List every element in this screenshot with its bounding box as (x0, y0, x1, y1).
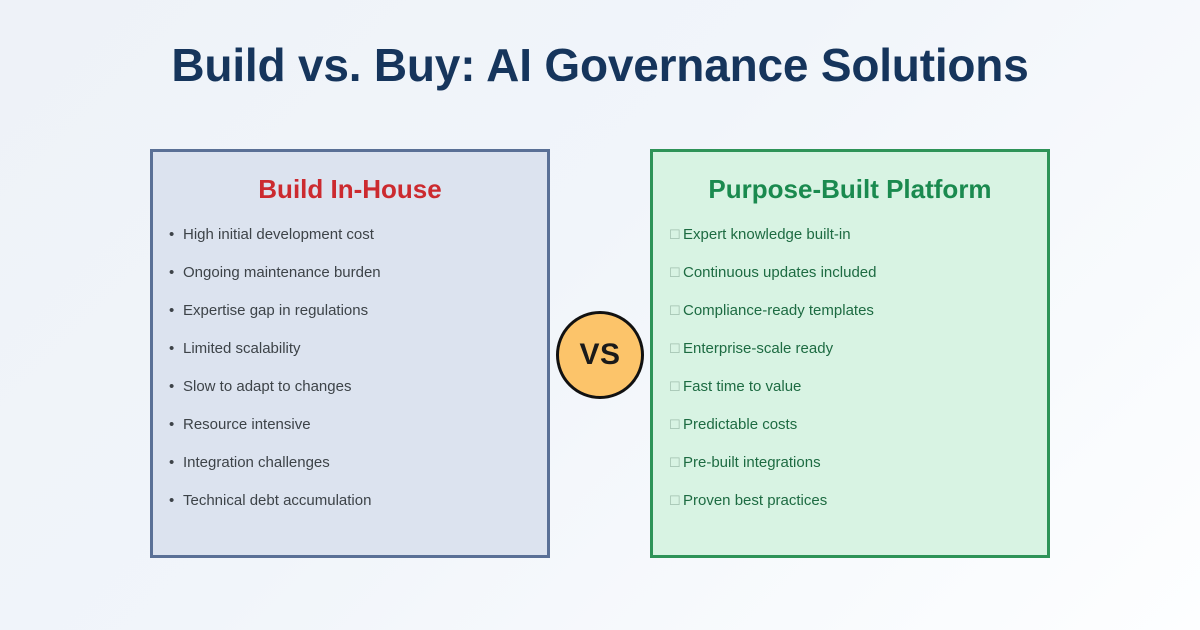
list-item-label: Continuous updates included (683, 264, 876, 281)
list-item: •Limited scalability (153, 340, 547, 378)
bullet-marker-icon: ☐ (669, 379, 683, 395)
bullet-marker-icon: ☐ (669, 493, 683, 509)
list-item-label: Limited scalability (183, 340, 301, 357)
bullet-marker-icon: ☐ (669, 303, 683, 319)
build-in-house-heading: Build In-House (153, 174, 547, 205)
page-title: Build vs. Buy: AI Governance Solutions (0, 38, 1200, 92)
list-item: ☐Proven best practices (653, 492, 1047, 530)
list-item-label: Ongoing maintenance burden (183, 264, 381, 281)
list-item-label: Resource intensive (183, 416, 311, 433)
list-item: •Integration challenges (153, 454, 547, 492)
list-item-label: Integration challenges (183, 454, 330, 471)
bullet-marker-icon: • (169, 378, 183, 395)
bullet-marker-icon: • (169, 264, 183, 281)
bullet-marker-icon: • (169, 226, 183, 243)
bullet-marker-icon: ☐ (669, 455, 683, 471)
list-item: ☐Enterprise-scale ready (653, 340, 1047, 378)
list-item: ☐Continuous updates included (653, 264, 1047, 302)
list-item: ☐Predictable costs (653, 416, 1047, 454)
bullet-marker-icon: ☐ (669, 341, 683, 357)
bullet-marker-icon: • (169, 416, 183, 433)
bullet-marker-icon: ☐ (669, 417, 683, 433)
list-item: •High initial development cost (153, 226, 547, 264)
bullet-marker-icon: • (169, 492, 183, 509)
bullet-marker-icon: • (169, 302, 183, 319)
list-item: ☐Expert knowledge built-in (653, 226, 1047, 264)
list-item: •Slow to adapt to changes (153, 378, 547, 416)
build-in-house-list: •High initial development cost•Ongoing m… (153, 226, 547, 530)
list-item-label: Enterprise-scale ready (683, 340, 833, 357)
list-item-label: Predictable costs (683, 416, 797, 433)
purpose-built-platform-panel: Purpose-Built Platform ☐Expert knowledge… (650, 149, 1050, 558)
bullet-marker-icon: • (169, 340, 183, 357)
list-item: •Ongoing maintenance burden (153, 264, 547, 302)
list-item-label: Pre-built integrations (683, 454, 821, 471)
purpose-built-platform-heading: Purpose-Built Platform (653, 174, 1047, 205)
list-item: •Expertise gap in regulations (153, 302, 547, 340)
list-item-label: Expertise gap in regulations (183, 302, 368, 319)
list-item-label: Proven best practices (683, 492, 827, 509)
purpose-built-platform-list: ☐Expert knowledge built-in☐Continuous up… (653, 226, 1047, 530)
list-item: ☐Compliance-ready templates (653, 302, 1047, 340)
build-in-house-panel: Build In-House •High initial development… (150, 149, 550, 558)
list-item-label: Expert knowledge built-in (683, 226, 851, 243)
list-item-label: High initial development cost (183, 226, 374, 243)
list-item-label: Compliance-ready templates (683, 302, 874, 319)
bullet-marker-icon: ☐ (669, 227, 683, 243)
list-item: •Technical debt accumulation (153, 492, 547, 530)
list-item: ☐Pre-built integrations (653, 454, 1047, 492)
bullet-marker-icon: ☐ (669, 265, 683, 281)
list-item: •Resource intensive (153, 416, 547, 454)
vs-badge: VS (556, 311, 644, 399)
bullet-marker-icon: • (169, 454, 183, 471)
comparison-slide: Build vs. Buy: AI Governance Solutions B… (0, 0, 1200, 630)
list-item-label: Technical debt accumulation (183, 492, 371, 509)
list-item: ☐Fast time to value (653, 378, 1047, 416)
list-item-label: Fast time to value (683, 378, 801, 395)
list-item-label: Slow to adapt to changes (183, 378, 351, 395)
